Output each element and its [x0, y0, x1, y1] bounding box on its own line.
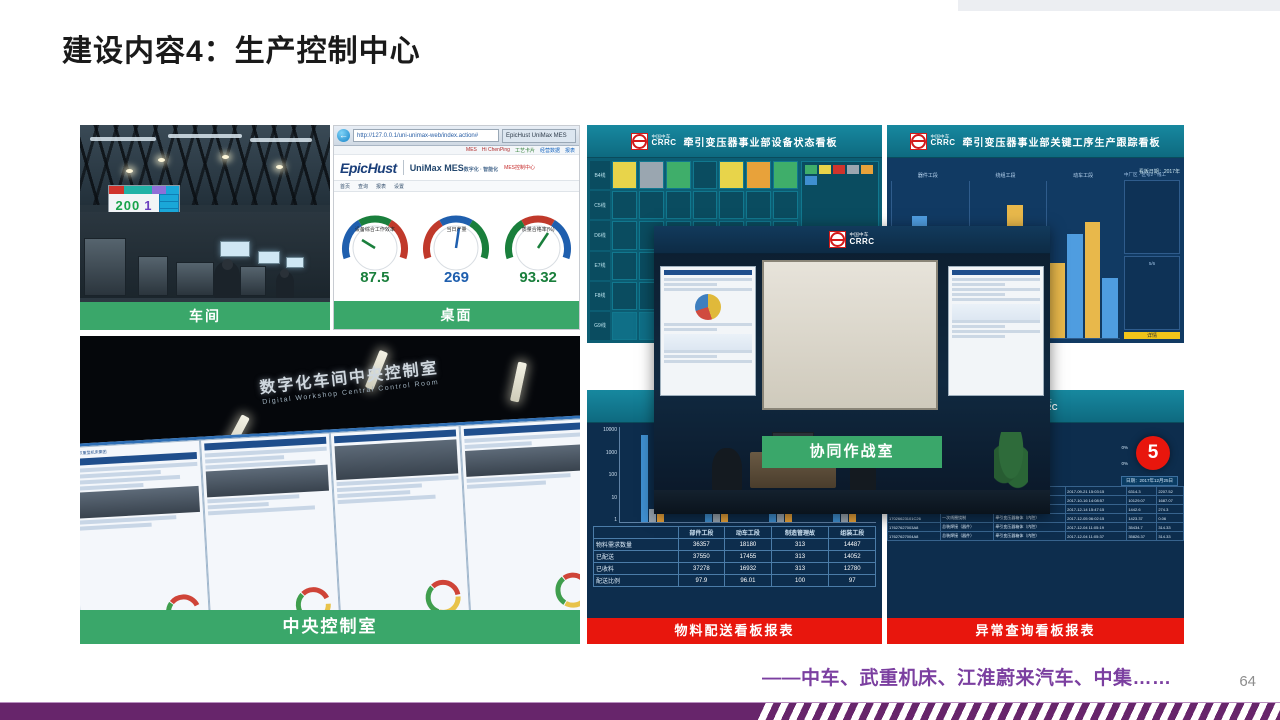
caption-control-room: 中央控制室	[80, 610, 580, 644]
row-tag: D6线	[590, 221, 610, 249]
workshop-small-display	[258, 251, 280, 264]
menu-item[interactable]: 设置	[394, 183, 404, 190]
workshop-machine	[84, 238, 126, 296]
cell: 274.3	[1157, 505, 1184, 514]
monitor-sparkline	[952, 304, 1040, 320]
wall-donut-gauge	[551, 568, 580, 612]
column-header: 制造管理故	[771, 527, 829, 539]
war-room-projection-screen	[762, 260, 938, 410]
workshop-machine	[138, 256, 168, 296]
y-tick: 100	[609, 472, 617, 478]
cell: 2207.52	[1157, 487, 1184, 496]
cell: 96.01	[725, 575, 772, 587]
gauge-label: 当日产量	[418, 226, 494, 233]
column-header: 动车工段	[1046, 172, 1120, 179]
y-tick: 10000	[603, 427, 617, 433]
cell: 16932	[725, 563, 772, 575]
column-header: 绕组工段	[969, 172, 1043, 179]
board-date-label: 看板日期：2017年	[1139, 169, 1180, 175]
gauge-panel: 设备综合工作效率 87.5 当日产量 269	[334, 192, 579, 296]
war-room-right-monitor	[948, 266, 1044, 396]
product-name: UniMax MES数字化 · 智能化	[410, 163, 498, 173]
photo-control-room: 数字化车间中央控制室 Digital Workshop Central Cont…	[80, 336, 580, 644]
ceiling-lamp	[158, 158, 165, 162]
cell: 14052	[829, 551, 876, 563]
workshop-worker-head	[280, 269, 289, 278]
page-title: 建设内容4：生产控制中心	[62, 26, 421, 70]
slide-root: 建设内容4：生产控制中心 200 1	[0, 0, 1280, 720]
crrc-logo: 中国中车 CRRC	[631, 133, 676, 150]
table-row: 17627627003A8 总装焊接（器件） 牵引变压器箱体（内腔） 2017-…	[888, 523, 1184, 532]
cell: 1442.6	[1127, 505, 1157, 514]
crrc-logo: 中国中车 CRRC	[829, 231, 874, 248]
cell: 17026623101C26	[888, 514, 941, 523]
video-wall-cell	[200, 432, 341, 636]
workshop-machine	[176, 262, 214, 296]
alert-count-badge: 5	[1136, 436, 1170, 470]
bottom-bar-solid	[0, 703, 758, 720]
war-room-left-monitor	[660, 266, 756, 396]
skylight	[250, 138, 312, 142]
gauge-value: 87.5	[337, 269, 413, 286]
side-mini-panel: 5/6	[1124, 256, 1180, 330]
cell: 10129.07	[1127, 496, 1157, 505]
gauge-label: 设备综合工作效率	[337, 226, 413, 233]
row-label: 物料需求数量	[594, 539, 679, 551]
bottom-bar-stripes	[758, 703, 1280, 720]
cell: 2017-12-04 11:05:19	[1066, 523, 1127, 532]
epichust-logo: EpicHust	[340, 160, 397, 176]
product-note: MES控制中心	[504, 164, 535, 171]
equipment-row: C5线	[590, 191, 798, 219]
cell: 97.9	[678, 575, 725, 587]
cell: 314.33	[1157, 532, 1184, 541]
crrc-brand-en: CRRC	[651, 139, 676, 147]
crrc-logo: 中国中车 CRRC	[910, 133, 955, 150]
workshop-worker-head	[222, 259, 233, 270]
cell: 35434.7	[1127, 523, 1157, 532]
cell: 14487	[829, 539, 876, 551]
percent-readouts: 0% 0%	[1121, 440, 1128, 472]
tracking-side-panel: 中厂区 - 区号2 - 线工 5/6 详情	[1124, 172, 1180, 339]
fav-item[interactable]: 工艺卡片	[515, 147, 535, 154]
mes-header: EpicHust UniMax MES数字化 · 智能化 MES控制中心	[334, 155, 579, 181]
percent-value: 0%	[1121, 440, 1128, 456]
table-row: 17026623101C26 一次线圈绕制 牵引变压器箱体（内腔） 2017-1…	[888, 514, 1184, 523]
cell: 17627627003A8	[888, 523, 941, 532]
cell: 6314.3	[1127, 487, 1157, 496]
row-tag: B4线	[590, 161, 610, 189]
tracking-column: 动车工段	[1046, 172, 1120, 339]
divider	[403, 160, 404, 175]
row-label: 配送比例	[594, 575, 679, 587]
table-row: 已配送 37550 17455 313 14052	[594, 551, 876, 563]
browser-chrome: ← http://127.0.0.1/uni-unimax-web/index.…	[334, 126, 579, 146]
row-tag: F8线	[590, 282, 610, 310]
menu-item[interactable]: 首页	[340, 183, 350, 190]
monitor-sparkline	[664, 334, 752, 350]
cell: 0.06	[1157, 514, 1184, 523]
cell: 313	[771, 563, 829, 575]
cell: 2017-12-04 11:05:37	[1066, 532, 1127, 541]
cell: 2017-10-16 14:08:57	[1066, 496, 1127, 505]
caption-desktop: 桌面	[334, 301, 579, 329]
board-title: 牵引变压器事业部设备状态看板	[684, 134, 838, 149]
cell: 100	[771, 575, 829, 587]
cell: 18180	[725, 539, 772, 551]
gauge-output: 当日产量 269	[418, 196, 494, 292]
war-room-header-strip: 中国中车 CRRC	[654, 226, 1050, 254]
table-header-row: 部件工段 动车工段 制造管理故 组装工段	[594, 527, 876, 539]
cell: 313	[771, 551, 829, 563]
cell: 97	[829, 575, 876, 587]
board-title: 牵引变压器事业部关键工序生产跟踪看板	[963, 134, 1161, 149]
cell: 牵引变压器箱体（内腔）	[994, 532, 1066, 541]
crrc-mark-icon	[631, 133, 648, 150]
percent-value: 0%	[1121, 456, 1128, 472]
column-header: 器件工段	[891, 172, 965, 179]
ceiling-lamp	[222, 155, 229, 159]
y-tick: 10	[611, 495, 617, 501]
board-header: 中国中车 CRRC 牵引变压器事业部关键工序生产跟踪看板	[887, 125, 1184, 158]
display-value-1: 200	[116, 198, 141, 213]
crrc-mark-icon	[829, 231, 846, 248]
caption-workshop: 车间	[80, 302, 330, 330]
address-bar[interactable]: http://127.0.0.1/uni-unimax-web/index.ac…	[353, 129, 499, 142]
war-room-plant	[994, 432, 1028, 490]
material-table: 部件工段 动车工段 制造管理故 组装工段 物料需求数量 36357 18180 …	[593, 526, 876, 587]
back-arrow-icon[interactable]: ←	[337, 129, 350, 142]
fav-item[interactable]: Hi ChenPing	[482, 147, 510, 153]
workshop-small-display	[286, 257, 304, 268]
cell: 17627627004A8	[888, 532, 941, 541]
page-number: 64	[1239, 673, 1256, 690]
product-sub: 数字化 · 智能化	[464, 167, 498, 173]
table-row: 物料需求数量 36357 18180 313 14487	[594, 539, 876, 551]
cell: 37278	[678, 563, 725, 575]
cell: 一次线圈绕制	[941, 514, 994, 523]
table-row: 17627627004A8 总装焊接（器件） 牵引变压器箱体（内腔） 2017-…	[888, 532, 1184, 541]
fav-item[interactable]: 报表	[565, 147, 575, 154]
ceiling-light-tube	[510, 362, 527, 403]
ceiling-lamp	[126, 169, 133, 173]
cell: 2017-09-21 15:03:15	[1066, 487, 1127, 496]
cell: 17455	[725, 551, 772, 563]
equipment-row: B4线	[590, 161, 798, 189]
gauge-oee: 设备综合工作效率 87.5	[337, 196, 413, 292]
product-label: UniMax MES	[410, 163, 464, 173]
cell: 1423.37	[1127, 514, 1157, 523]
table-row: 已收料 37278 16932 313 12780	[594, 563, 876, 575]
gauge-label: 质量合格率(%)	[500, 226, 576, 233]
photo-desktop-mes: ← http://127.0.0.1/uni-unimax-web/index.…	[333, 125, 580, 330]
cell: 总装焊接（器件）	[941, 532, 994, 541]
side-value: 5/6	[1125, 257, 1179, 266]
browser-tab[interactable]: EpicHust UniMax MES	[502, 129, 576, 143]
cell: 2017-12-05 06:02:15	[1066, 514, 1127, 523]
board-header: 中国中车 CRRC 牵引变压器事业部设备状态看板	[587, 125, 882, 158]
fav-item[interactable]: 经营数据	[540, 147, 560, 154]
column-header: 部件工段	[678, 527, 725, 539]
chart-y-axis: 10000 1000 100 10 1	[593, 427, 619, 523]
skylight	[168, 134, 242, 138]
mes-menu-bar: 首页 查询 报表 设置	[334, 181, 579, 192]
video-wall-cell	[330, 425, 471, 629]
monitor-pie-chart	[695, 294, 721, 320]
row-label: 已收料	[594, 563, 679, 575]
cell: 1687.07	[1157, 496, 1184, 505]
display-value-2: 1	[144, 198, 152, 213]
column-chart	[1046, 181, 1120, 339]
photo-war-room: 中国中车 CRRC 协同作战室	[654, 226, 1050, 514]
footer-note: ——中车、武重机床、江淮蔚来汽车、中集……	[762, 663, 1172, 690]
cell: 总装焊接（器件）	[941, 523, 994, 532]
cell: 12780	[829, 563, 876, 575]
fav-item[interactable]: MES	[466, 147, 477, 153]
row-tag: E7线	[590, 252, 610, 280]
crrc-brand-en: CRRC	[930, 139, 955, 147]
row-tag: G9线	[590, 312, 610, 340]
board-date-label: 日期：2017年12月25日	[1121, 476, 1178, 486]
cell: 牵引变压器箱体（内腔）	[994, 514, 1066, 523]
crrc-brand-en: CRRC	[849, 238, 874, 246]
caption-war-room: 协同作战室	[762, 436, 942, 468]
ceiling-lamp	[276, 165, 283, 169]
column-header: 组装工段	[829, 527, 876, 539]
cell: 313	[771, 539, 829, 551]
top-decoration-band	[958, 0, 1280, 11]
cell: 2017-12-14 15:47:15	[1066, 505, 1127, 514]
cell: 牵引变压器箱体（内腔）	[994, 523, 1066, 532]
column-header: 动车工段	[725, 527, 772, 539]
video-wall-cell	[460, 418, 580, 622]
y-tick: 1	[614, 517, 617, 523]
photo-workshop: 200 1 车间	[80, 125, 330, 330]
table-row: 配送比例 97.9 96.01 100 97	[594, 575, 876, 587]
menu-item[interactable]: 查询	[358, 183, 368, 190]
crrc-mark-icon	[910, 133, 927, 150]
control-room-sign: 数字化车间中央控制室 Digital Workshop Central Cont…	[228, 351, 471, 422]
cell: 35826.37	[1127, 532, 1157, 541]
favorites-bar: MES Hi ChenPing 工艺卡片 经营数据 报表	[334, 146, 579, 155]
cell: 36357	[678, 539, 725, 551]
cell: 314.33	[1157, 523, 1184, 532]
gauge-value: 93.32	[500, 269, 576, 286]
skylight	[90, 137, 156, 141]
side-detail-button[interactable]: 详情	[1124, 332, 1180, 339]
workshop-small-display	[220, 241, 250, 257]
war-room-person	[712, 448, 742, 492]
row-tag: C5线	[590, 191, 610, 219]
gauge-quality: 质量合格率(%) 93.32	[500, 196, 576, 292]
y-tick: 1000	[606, 450, 617, 456]
war-room-floor	[654, 490, 1050, 514]
workshop-machine	[240, 266, 266, 296]
row-label: 已配送	[594, 551, 679, 563]
menu-item[interactable]: 报表	[376, 183, 386, 190]
cell: 37550	[678, 551, 725, 563]
caption-material-board: 物料配送看板报表	[587, 618, 882, 644]
caption-abnormal-board: 异常查询看板报表	[887, 618, 1184, 644]
side-mini-panel	[1124, 180, 1180, 254]
gauge-value: 269	[418, 269, 494, 286]
wall-logo: 武汉重型机床集团	[80, 449, 107, 457]
